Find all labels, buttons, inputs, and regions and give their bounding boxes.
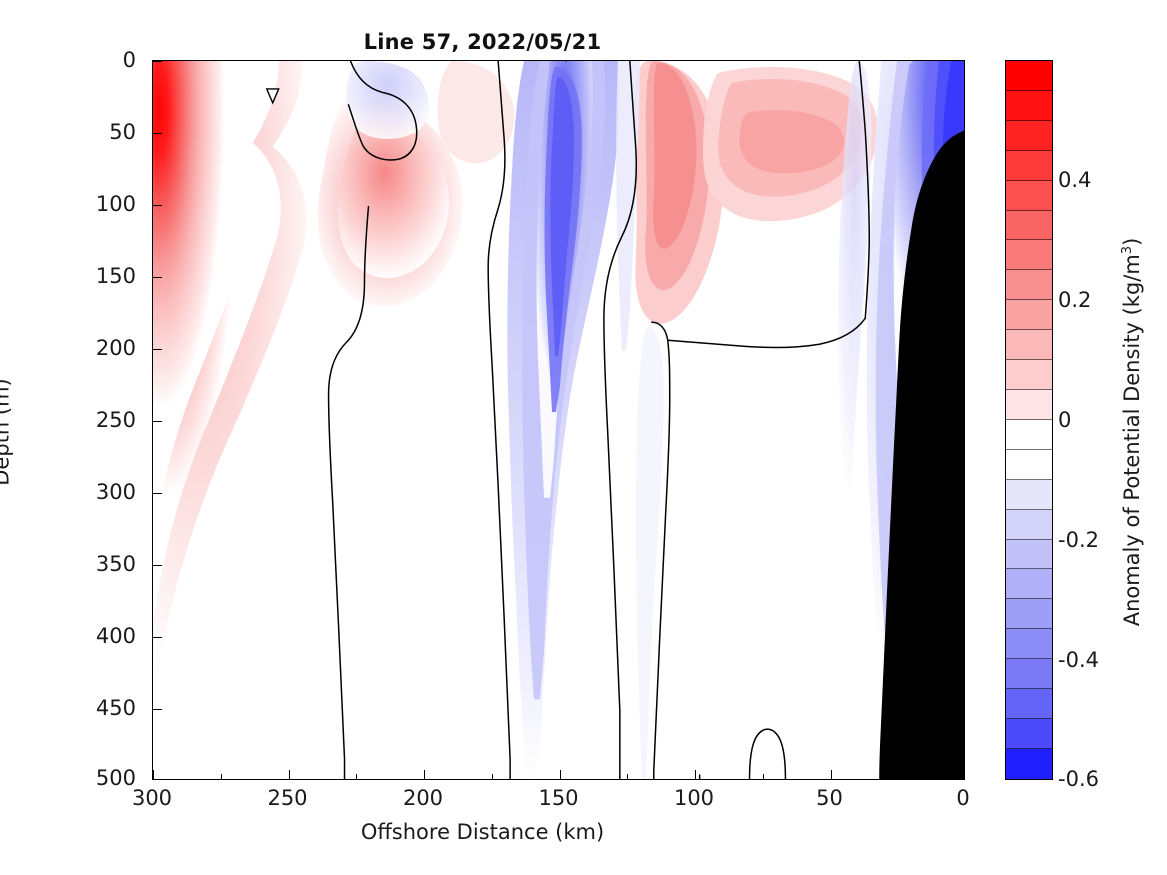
y-tick-label-50: 50 — [109, 120, 136, 144]
colorbar-band-22 — [1006, 719, 1052, 749]
x-tick-label-250: 250 — [267, 786, 307, 810]
y-tick-500 — [153, 779, 162, 780]
x-tick-label-150: 150 — [538, 786, 578, 810]
colorbar-tick-label-0: 0 — [1058, 408, 1071, 432]
colorbar-band-11 — [1006, 390, 1052, 420]
triangle-down-icon — [267, 89, 279, 103]
y-tick-label-200: 200 — [96, 336, 136, 360]
x-tick-200 — [424, 770, 425, 779]
colorbar-band-12 — [1006, 420, 1052, 450]
y-tick-150 — [153, 277, 162, 278]
x-tick-minor-275 — [221, 774, 222, 779]
x-tick-minor-125 — [627, 774, 628, 779]
y-tick-200 — [153, 349, 162, 350]
colorbar-band-17 — [1006, 569, 1052, 599]
y-tick-label-250: 250 — [96, 408, 136, 432]
colorbar-tick-label--0.2: -0.2 — [1058, 528, 1099, 552]
colorbar-band-23 — [1006, 749, 1052, 779]
y-tick-250 — [153, 421, 162, 422]
colorbar-band-10 — [1006, 360, 1052, 390]
x-tick-label-50: 50 — [816, 786, 843, 810]
x-tick-100 — [695, 770, 696, 779]
colorbar-tick-label--0.4: -0.4 — [1058, 648, 1099, 672]
colorbar-band-18 — [1006, 599, 1052, 629]
x-tick-minor-25 — [898, 774, 899, 779]
colorbar-title-tail: ) — [1120, 238, 1144, 246]
y-tick-350 — [153, 565, 162, 566]
x-tick-250 — [289, 770, 290, 779]
colorbar-title-main: Anomaly of Potential Density (kg/m — [1120, 254, 1144, 626]
colorbar-band-0 — [1006, 61, 1052, 91]
colorbar-tick-label-0.2: 0.2 — [1058, 288, 1091, 312]
y-tick-0 — [153, 61, 162, 62]
x-tick-50 — [831, 770, 832, 779]
x-tick-minor-75 — [763, 774, 764, 779]
y-tick-label-group: 0 50 100 150 200 250 300 350 400 450 500 — [0, 0, 144, 875]
x-tick-label-100: 100 — [674, 786, 714, 810]
colorbar-band-16 — [1006, 540, 1052, 570]
colorbar-band-21 — [1006, 689, 1052, 719]
x-tick-minor-225 — [356, 774, 357, 779]
y-tick-300 — [153, 493, 162, 494]
x-tick-label-200: 200 — [403, 786, 443, 810]
colorbar-band-9 — [1006, 330, 1052, 360]
y-tick-label-350: 350 — [96, 552, 136, 576]
colorbar-band-3 — [1006, 151, 1052, 181]
colorbar-band-7 — [1006, 270, 1052, 300]
colorbar[interactable] — [1005, 60, 1053, 780]
x-tick-300 — [153, 770, 154, 779]
figure-root: Line 57, 2022/05/21 — [0, 0, 1167, 875]
y-tick-label-0: 0 — [123, 48, 136, 72]
colorbar-title-wrap: Anomaly of Potential Density (kg/m3) — [1132, 0, 1133, 875]
y-tick-label-100: 100 — [96, 192, 136, 216]
page-title: Line 57, 2022/05/21 — [0, 30, 965, 54]
x-tick-minor-175 — [492, 774, 493, 779]
colorbar-band-13 — [1006, 450, 1052, 480]
y-tick-450 — [153, 709, 162, 710]
y-axis-title-wrap: Depth (m) — [60, 0, 61, 875]
y-axis-title: Depth (m) — [0, 378, 14, 485]
colorbar-band-19 — [1006, 629, 1052, 659]
colorbar-band-15 — [1006, 510, 1052, 540]
station-marker-layer — [153, 61, 964, 779]
colorbar-band-8 — [1006, 300, 1052, 330]
colorbar-band-20 — [1006, 659, 1052, 689]
colorbar-band-2 — [1006, 121, 1052, 151]
x-tick-150 — [560, 770, 561, 779]
y-tick-label-400: 400 — [96, 624, 136, 648]
colorbar-title: Anomaly of Potential Density (kg/m3) — [1120, 232, 1144, 632]
contour-canvas — [153, 61, 964, 779]
colorbar-band-1 — [1006, 91, 1052, 121]
y-tick-label-500: 500 — [96, 766, 136, 790]
colorbar-band-4 — [1006, 181, 1052, 211]
y-tick-label-300: 300 — [96, 480, 136, 504]
y-tick-label-450: 450 — [96, 696, 136, 720]
colorbar-tick-label--0.6: -0.6 — [1058, 767, 1099, 791]
y-tick-label-150: 150 — [96, 264, 136, 288]
colorbar-title-exponent: 3 — [1120, 246, 1135, 254]
colorbar-band-14 — [1006, 480, 1052, 510]
x-tick-0 — [964, 770, 965, 779]
y-tick-100 — [153, 205, 162, 206]
y-tick-400 — [153, 637, 162, 638]
contour-plot[interactable] — [152, 60, 965, 780]
colorbar-tick-label-0.4: 0.4 — [1058, 168, 1091, 192]
x-tick-label-0: 0 — [956, 786, 969, 810]
x-axis-title: Offshore Distance (km) — [0, 820, 965, 844]
colorbar-band-6 — [1006, 240, 1052, 270]
colorbar-band-5 — [1006, 211, 1052, 241]
y-tick-50 — [153, 133, 162, 134]
